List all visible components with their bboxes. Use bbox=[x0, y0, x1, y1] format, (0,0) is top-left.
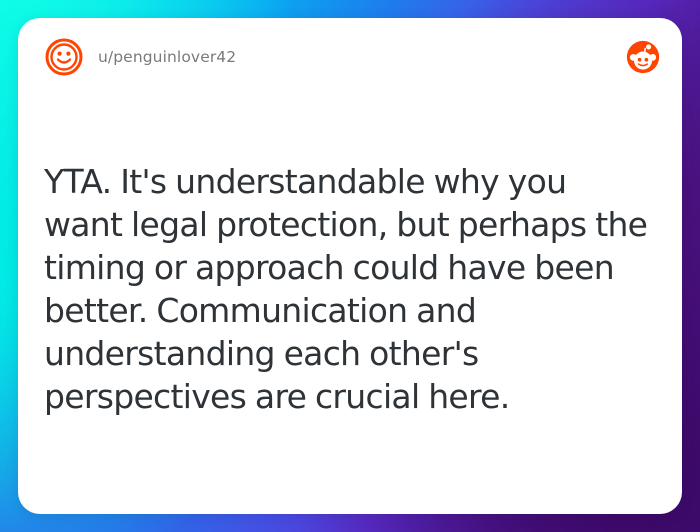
username-label: u/penguinlover42 bbox=[98, 48, 236, 66]
card-header: u/penguinlover42 bbox=[18, 18, 682, 96]
smiley-face-avatar-icon[interactable] bbox=[44, 37, 84, 77]
comment-text: YTA. It's understandable why you want le… bbox=[44, 160, 652, 418]
comment-card: u/penguinlover42 YTA. It's understandabl… bbox=[18, 18, 682, 514]
card-body: YTA. It's understandable why you want le… bbox=[44, 160, 652, 418]
reddit-comment-card-page: { "background": { "gradient_from": "#0ef… bbox=[0, 0, 700, 532]
reddit-snoo-logo-icon[interactable] bbox=[626, 40, 660, 74]
